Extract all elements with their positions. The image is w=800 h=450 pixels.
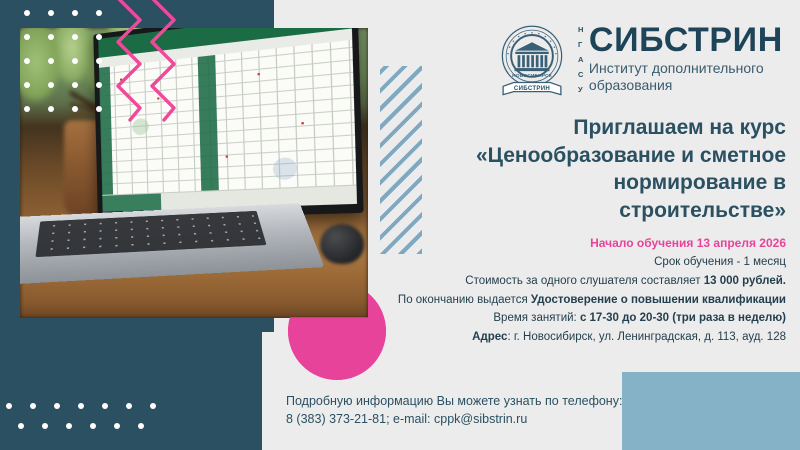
sibstrin-logo: НОВОСИБИРСК СИБСТРИН Н Г А С У СИБСТРИН … bbox=[494, 22, 783, 102]
dot bbox=[96, 34, 102, 40]
dot bbox=[24, 58, 30, 64]
dot bbox=[48, 58, 54, 64]
dot-grid-bottom bbox=[6, 403, 174, 443]
dot bbox=[72, 10, 78, 16]
headline-line-3: нормирование в bbox=[400, 169, 786, 197]
course-details: Начало обучения 13 апреля 2026 Срок обуч… bbox=[300, 234, 786, 347]
detail-schedule-prefix: Время занятий: bbox=[493, 312, 580, 324]
dot bbox=[30, 403, 36, 409]
ngasu-letter-n: Н bbox=[578, 26, 584, 34]
logo-subtitle-line1: Институт дополнительного bbox=[589, 60, 783, 77]
detail-price-prefix: Стоимость за одного слушателя составляет bbox=[465, 275, 703, 287]
dot bbox=[42, 423, 48, 429]
detail-start-date: Начало обучения 13 апреля 2026 bbox=[300, 234, 786, 253]
dot bbox=[66, 423, 72, 429]
dot bbox=[48, 82, 54, 88]
dot bbox=[72, 106, 78, 112]
dot bbox=[138, 423, 144, 429]
promotional-poster: НОВОСИБИРСК СИБСТРИН Н Г А С У СИБСТРИН … bbox=[0, 0, 800, 450]
detail-certificate: По окончанию выдается Удостоверение о по… bbox=[300, 291, 786, 310]
detail-duration: Срок обучения - 1 месяц bbox=[300, 253, 786, 272]
detail-price-value: 13 000 рублей. bbox=[704, 275, 786, 287]
ngasu-letter-u: У bbox=[578, 86, 584, 94]
ngasu-letter-s: С bbox=[578, 71, 584, 79]
detail-certificate-value: Удостоверение о повышении квалификации bbox=[531, 294, 786, 306]
detail-schedule-value: с 17-30 до 20-30 (три раза в неделю) bbox=[580, 312, 786, 324]
dot bbox=[24, 34, 30, 40]
dot bbox=[24, 82, 30, 88]
dot bbox=[96, 106, 102, 112]
dot bbox=[90, 423, 96, 429]
dot bbox=[96, 10, 102, 16]
dot bbox=[24, 106, 30, 112]
emblem-city-text: НОВОСИБИРСК bbox=[512, 73, 552, 79]
emblem-ribbon-text: СИБСТРИН bbox=[514, 85, 550, 92]
logo-text-block: СИБСТРИН Институт дополнительного образо… bbox=[589, 23, 783, 93]
contact-line-1: Подробную информацию Вы можете узнать по… bbox=[286, 393, 706, 411]
dot bbox=[126, 403, 132, 409]
dot bbox=[96, 82, 102, 88]
dot bbox=[24, 10, 30, 16]
dot bbox=[48, 106, 54, 112]
dot bbox=[96, 58, 102, 64]
detail-address: Адрес: г. Новосибирск, ул. Ленинградская… bbox=[300, 328, 786, 347]
ngasu-letter-a: А bbox=[578, 56, 584, 64]
dot bbox=[150, 403, 156, 409]
headline-line-1: Приглашаем на курс bbox=[400, 114, 786, 142]
logo-title: СИБСТРИН bbox=[589, 23, 783, 57]
logo-subtitle-line2: образования bbox=[589, 77, 783, 94]
course-headline: Приглашаем на курс «Ценообразование и см… bbox=[400, 114, 786, 225]
dot bbox=[48, 10, 54, 16]
detail-address-label: Адрес bbox=[472, 331, 507, 343]
headline-line-2: «Ценообразование и сметное bbox=[400, 142, 786, 170]
dot-grid-top bbox=[24, 10, 120, 130]
detail-certificate-prefix: По окончанию выдается bbox=[398, 294, 531, 306]
dot bbox=[72, 58, 78, 64]
detail-address-value: : г. Новосибирск, ул. Ленинградская, д. … bbox=[507, 331, 786, 343]
logo-subtitle: Институт дополнительного образования bbox=[589, 60, 783, 93]
dot bbox=[78, 403, 84, 409]
detail-price: Стоимость за одного слушателя составляет… bbox=[300, 272, 786, 291]
dot bbox=[6, 403, 12, 409]
headline-line-4: строительстве» bbox=[400, 197, 786, 225]
university-emblem-icon: НОВОСИБИРСК СИБСТРИН bbox=[494, 22, 570, 102]
dot bbox=[102, 403, 108, 409]
dot bbox=[18, 423, 24, 429]
detail-schedule: Время занятий: с 17-30 до 20-30 (три раз… bbox=[300, 309, 786, 328]
dot bbox=[54, 403, 60, 409]
dot bbox=[72, 34, 78, 40]
ngasu-vertical-letters: Н Г А С У bbox=[578, 26, 584, 101]
ngasu-letter-g: Г bbox=[578, 41, 584, 49]
contact-info: Подробную информацию Вы можете узнать по… bbox=[286, 393, 706, 429]
dot bbox=[114, 423, 120, 429]
photo-keyboard bbox=[35, 211, 266, 257]
pink-zigzag-decoration bbox=[112, 0, 184, 122]
dot bbox=[48, 34, 54, 40]
contact-line-2: 8 (383) 373-21-81; e-mail: cppk@sibstrin… bbox=[286, 411, 706, 429]
dot bbox=[72, 82, 78, 88]
